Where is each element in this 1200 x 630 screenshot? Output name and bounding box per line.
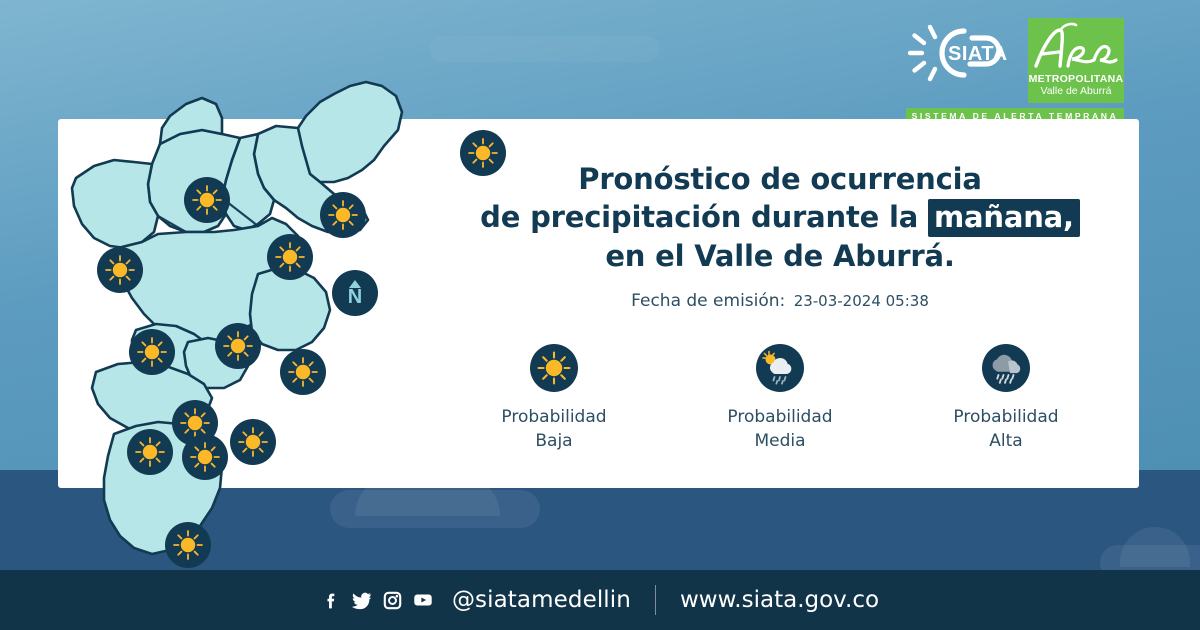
map-region-north-east xyxy=(298,82,402,182)
map-region-west xyxy=(72,160,158,248)
sun-icon xyxy=(184,177,230,223)
sun-icon xyxy=(320,192,366,238)
twitter-icon[interactable] xyxy=(351,589,373,611)
map-region-envigado xyxy=(250,268,330,350)
emission-label: Fecha de emisión: xyxy=(631,291,785,311)
instagram-icon[interactable] xyxy=(382,590,403,611)
probability-legend: Probabilidad Baja xyxy=(430,344,1130,454)
legend-label-baja: Probabilidad Baja xyxy=(501,405,606,454)
sun-icon xyxy=(97,247,143,293)
sun-icon xyxy=(165,522,211,568)
social-handle[interactable]: @siatamedellin xyxy=(452,587,631,613)
sun-cloud-rain-icon xyxy=(756,344,804,392)
legend-label-alta: Probabilidad Alta xyxy=(953,405,1058,454)
title-line-2-text: de precipitación durante la xyxy=(480,200,918,234)
area-line2: Valle de Aburrá xyxy=(1040,85,1111,98)
legend-item-media: Probabilidad Media xyxy=(705,344,855,454)
emission-date: Fecha de emisión: 23-03-2024 05:38 xyxy=(430,291,1130,311)
infographic-root: SIATA METROPOLITANA Valle de Aburrá SIST… xyxy=(0,0,1200,630)
area-metropolitana-logo: METROPOLITANA Valle de Aburrá xyxy=(1028,18,1124,103)
emission-value: 23-03-2024 05:38 xyxy=(794,292,929,310)
sun-icon xyxy=(530,344,578,392)
background-cloud-top xyxy=(430,36,660,62)
siata-wordmark: SIATA xyxy=(948,43,1008,65)
legend-item-alta: Probabilidad Alta xyxy=(931,344,1081,454)
sun-icon xyxy=(215,323,261,369)
sun-icon xyxy=(182,434,228,480)
youtube-icon[interactable] xyxy=(412,589,434,611)
valle-de-aburra-map: N xyxy=(62,42,402,562)
north-arrow-icon: N xyxy=(332,270,378,316)
text-panel: Pronóstico de ocurrencia de precipitació… xyxy=(430,160,1130,454)
legend-label-media: Probabilidad Media xyxy=(727,405,832,454)
area-script-icon xyxy=(1028,20,1124,76)
title-line-3: en el Valle de Aburrá. xyxy=(430,237,1130,275)
social-icon-group xyxy=(321,589,434,611)
footer-content: @siatamedellin www.siata.gov.co xyxy=(321,585,879,615)
title-line-2: de precipitación durante la mañana, xyxy=(430,198,1130,236)
siata-logo: SIATA xyxy=(900,18,1030,88)
sun-icon xyxy=(129,329,175,375)
sun-icon xyxy=(280,349,326,395)
footer-bar: @siatamedellin www.siata.gov.co xyxy=(0,570,1200,630)
sun-icon xyxy=(127,429,173,475)
website-url[interactable]: www.siata.gov.co xyxy=(680,587,879,613)
compass-label: N xyxy=(348,287,362,307)
title-highlight-period: mañana, xyxy=(928,199,1080,237)
facebook-icon[interactable] xyxy=(321,590,342,611)
sun-icon xyxy=(230,419,276,465)
sun-icon xyxy=(267,234,313,280)
page-title: Pronóstico de ocurrencia de precipitació… xyxy=(430,160,1130,275)
logo-group: SIATA METROPOLITANA Valle de Aburrá SIST… xyxy=(900,18,1125,112)
title-line-1: Pronóstico de ocurrencia xyxy=(430,160,1130,198)
cloud-heavy-rain-icon xyxy=(982,344,1030,392)
footer-divider xyxy=(655,585,656,615)
legend-item-baja: Probabilidad Baja xyxy=(479,344,629,454)
